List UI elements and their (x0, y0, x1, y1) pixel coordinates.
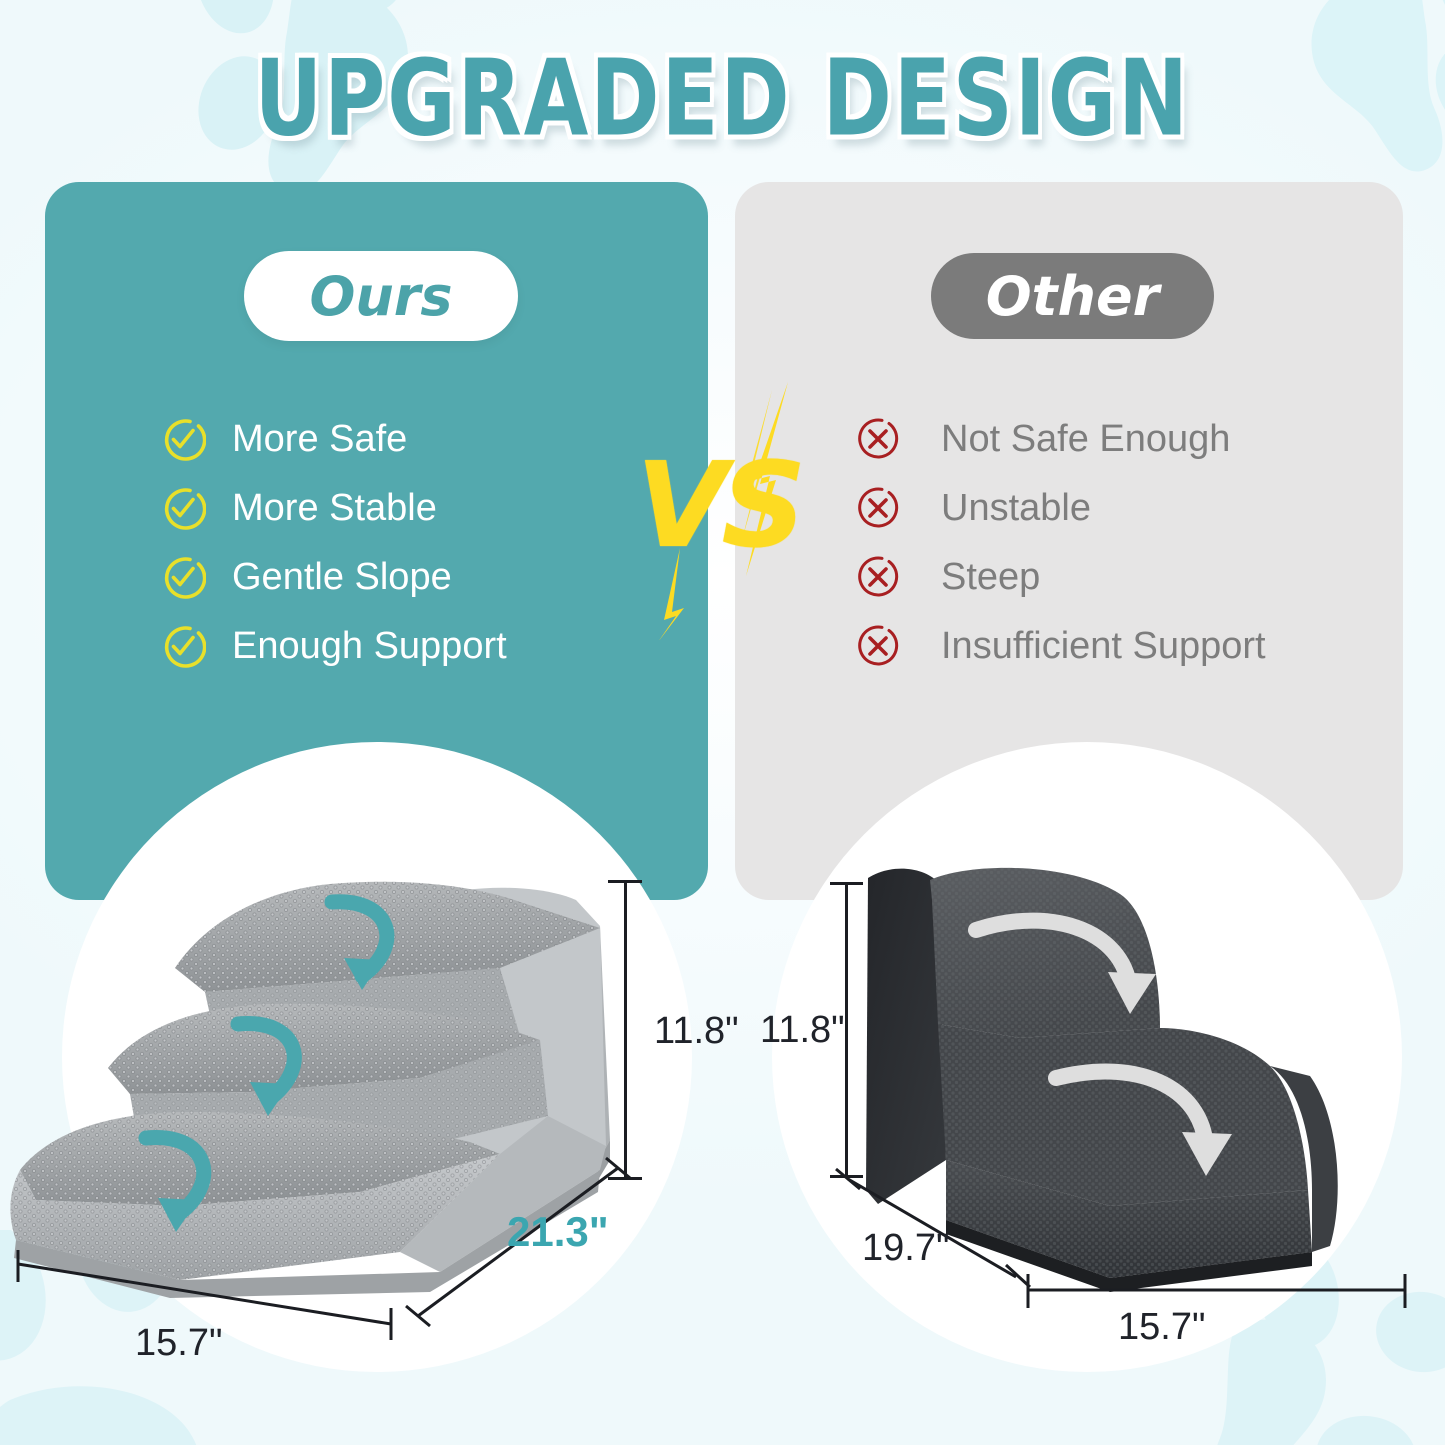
other-width-dim-label: 15.7" (1118, 1306, 1205, 1349)
other-width-dim-line (1020, 1262, 1420, 1322)
feature-label: Enough Support (232, 627, 507, 665)
other-badge-label: Other (986, 265, 1159, 328)
page-title: UPGRADED DESIGN (255, 38, 1190, 160)
check-circle-icon (160, 485, 206, 531)
feature-row: Insufficient Support (855, 611, 1266, 680)
versus-label: VS (636, 436, 800, 574)
check-circle-icon (160, 623, 206, 669)
feature-row: Enough Support (160, 611, 507, 680)
feature-row: More Safe (160, 404, 507, 473)
ours-badge-label: Ours (309, 265, 452, 328)
ours-width-dim-label: 15.7" (135, 1322, 222, 1365)
feature-row: Not Safe Enough (855, 404, 1266, 473)
feature-label: Unstable (941, 489, 1091, 527)
other-badge: Other (931, 253, 1214, 339)
feature-label: Steep (941, 558, 1040, 596)
cross-circle-icon (855, 554, 901, 600)
ours-badge: Ours (244, 251, 518, 341)
other-feature-list: Not Safe Enough Unstable Steep (855, 404, 1266, 680)
feature-label: Insufficient Support (941, 627, 1266, 665)
cross-circle-icon (855, 623, 901, 669)
ours-feature-list: More Safe More Stable Gentle Slope (160, 404, 507, 680)
ours-height-dim-label: 11.8" (654, 1010, 739, 1053)
cross-circle-icon (855, 485, 901, 531)
feature-label: Gentle Slope (232, 558, 452, 596)
feature-label: Not Safe Enough (941, 420, 1230, 458)
ours-depth-dim-label: 21.3" (507, 1208, 609, 1256)
feature-label: More Stable (232, 489, 437, 527)
ours-height-dim-cap-top (608, 880, 642, 883)
other-height-dim-label: 11.8" (760, 1009, 845, 1052)
infographic-canvas: UPGRADED DESIGN Ours Other More Safe (0, 0, 1445, 1445)
feature-row: Steep (855, 542, 1266, 611)
cross-circle-icon (855, 416, 901, 462)
feature-row: Unstable (855, 473, 1266, 542)
feature-row: Gentle Slope (160, 542, 507, 611)
other-height-dim-cap-top (830, 882, 863, 885)
other-depth-dim-label: 19.7" (862, 1227, 949, 1270)
feature-label: More Safe (232, 420, 407, 458)
headline-container: UPGRADED DESIGN (0, 38, 1445, 138)
feature-row: More Stable (160, 473, 507, 542)
check-circle-icon (160, 416, 206, 462)
ours-height-dim-line (624, 880, 627, 1180)
other-height-dim-line (845, 882, 848, 1178)
versus-badge: VS (620, 380, 850, 640)
check-circle-icon (160, 554, 206, 600)
